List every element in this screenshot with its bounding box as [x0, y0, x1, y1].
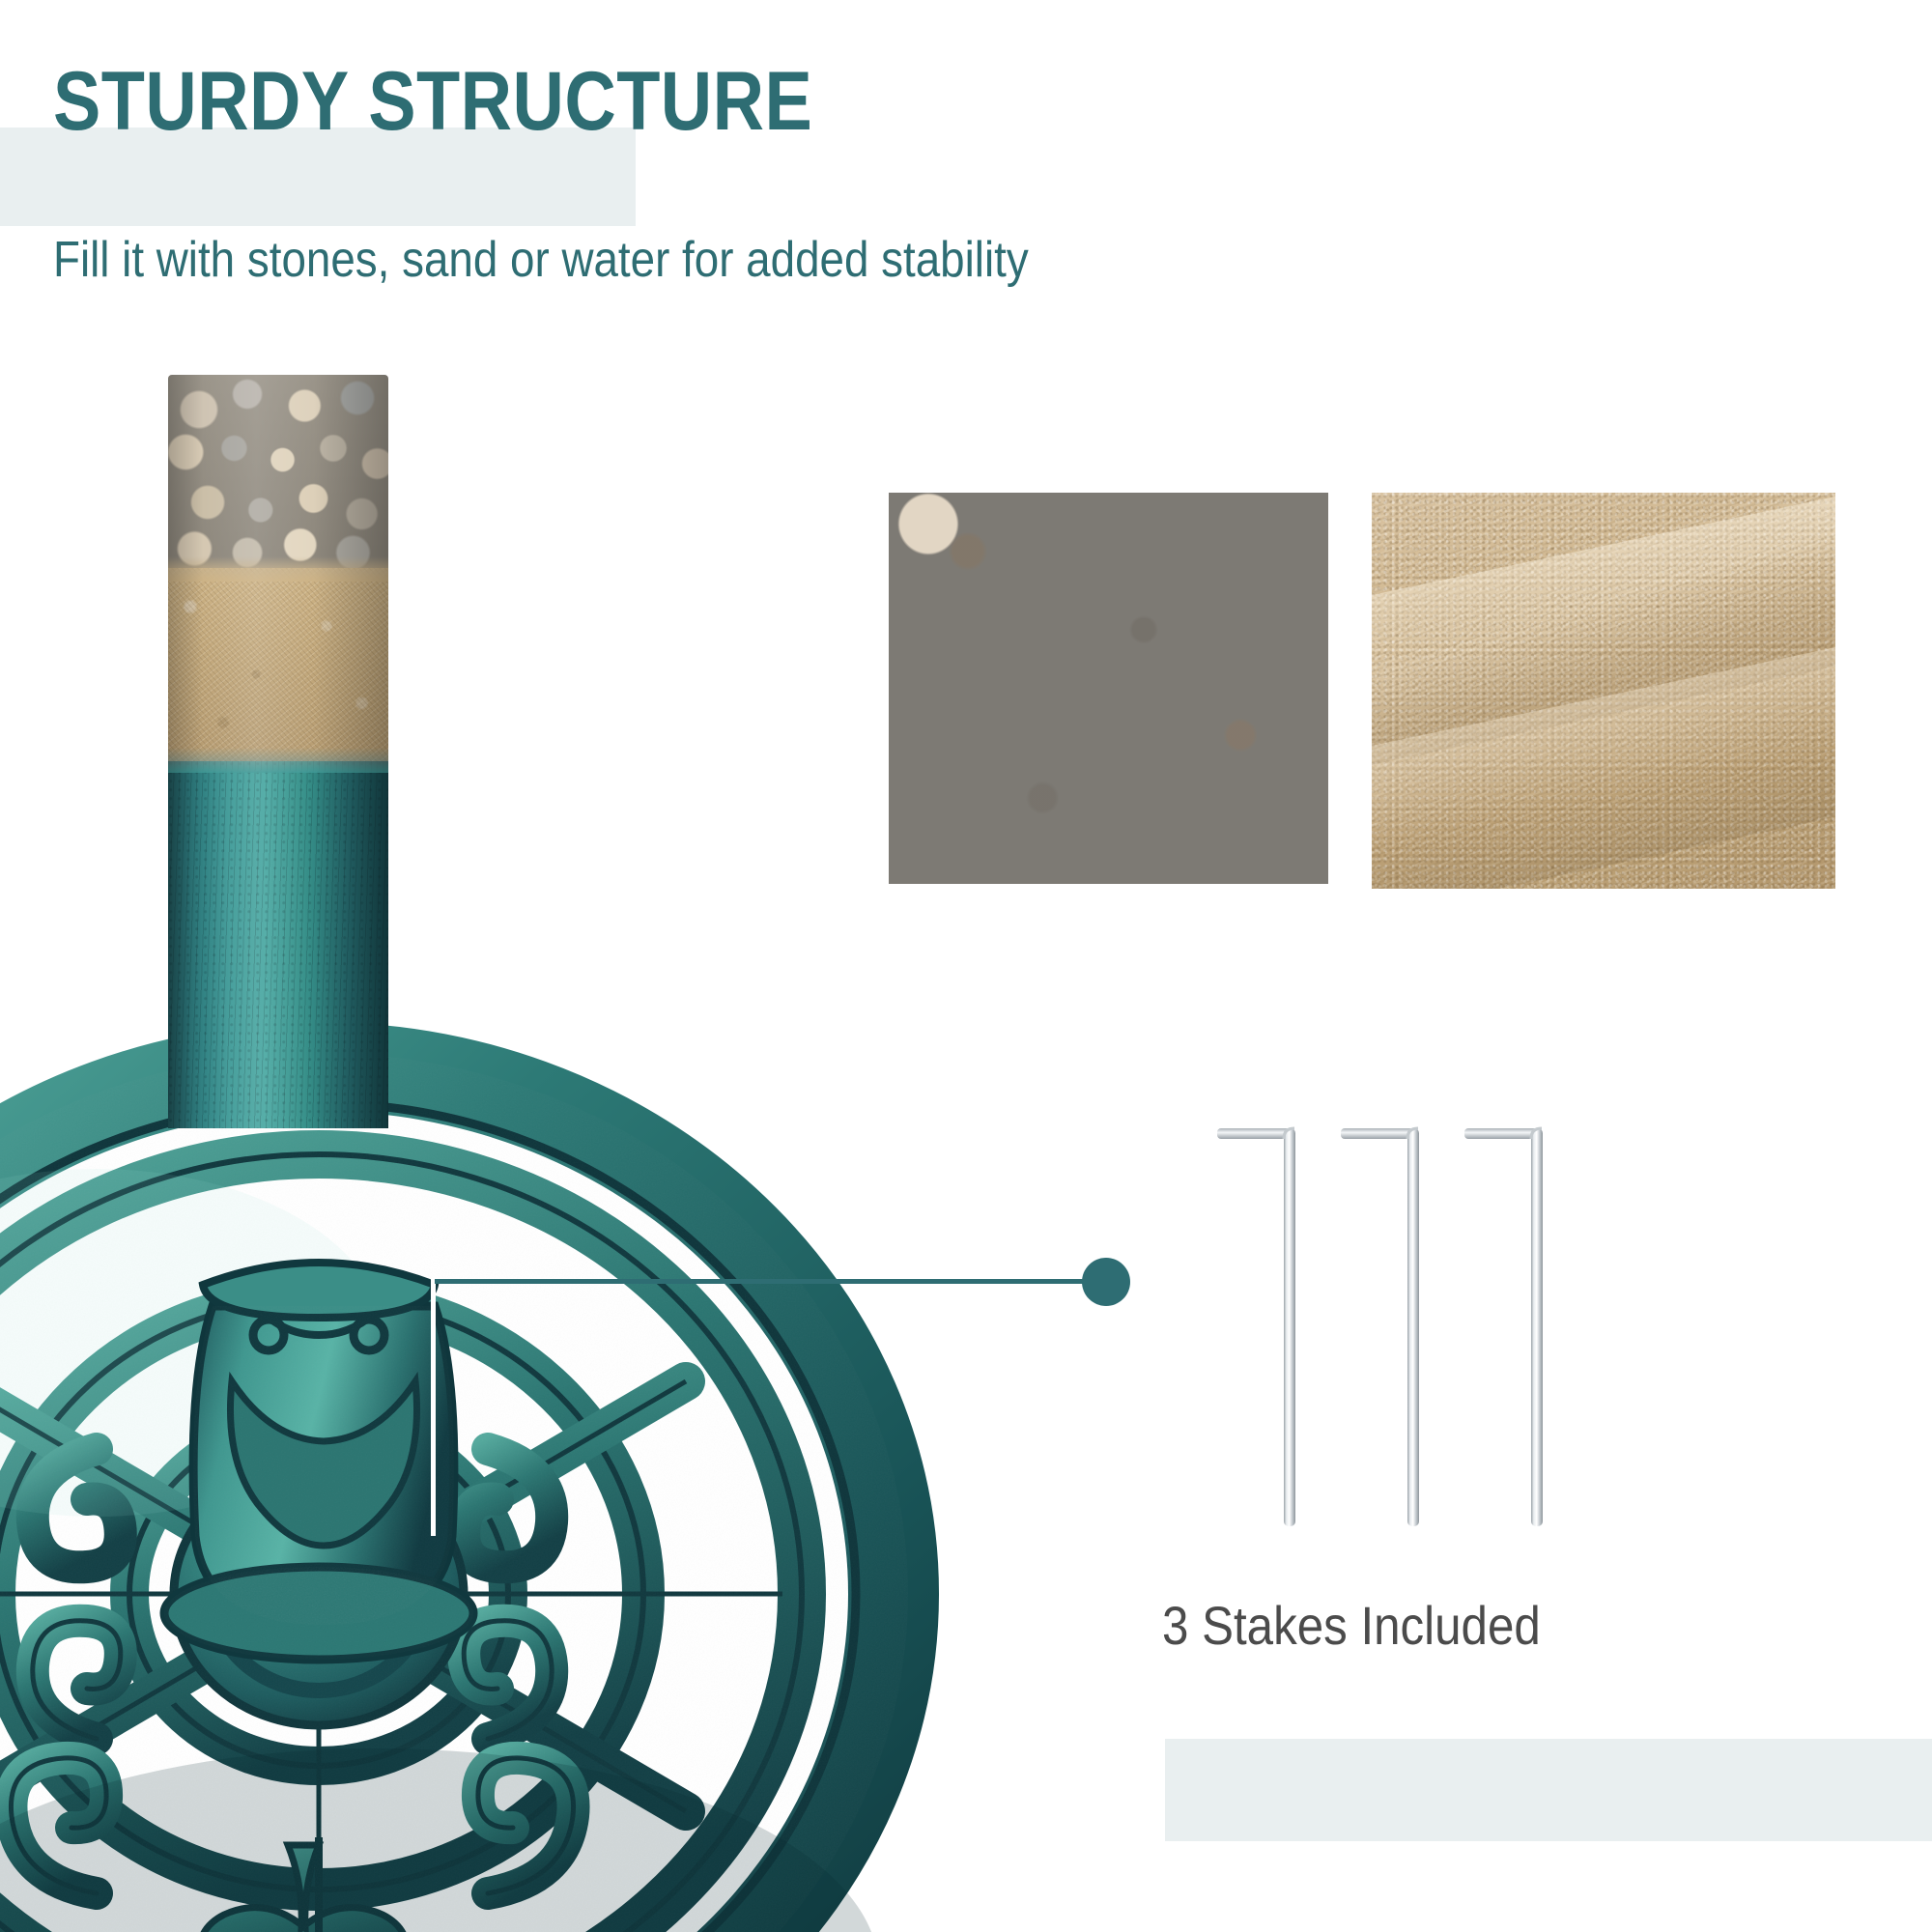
umbrella-base-illustration: [0, 995, 995, 1932]
infographic-canvas: STURDY STRUCTURE Fill it with stones, sa…: [0, 0, 1932, 1932]
pole-fill-stones: [168, 375, 388, 568]
stakes-caption: 3 Stakes Included: [1162, 1599, 1541, 1653]
stake-3: [1464, 1128, 1543, 1526]
stones-swatch: [889, 493, 1328, 884]
stake-2: [1341, 1128, 1419, 1526]
bottom-accent-band: [1165, 1739, 1932, 1841]
pole-body-teal: [168, 761, 388, 1128]
callout-dot-icon: [1082, 1258, 1130, 1306]
pole-fill-sand: [168, 568, 388, 761]
page-title: STURDY STRUCTURE: [53, 60, 812, 143]
page-subtitle: Fill it with stones, sand or water for a…: [53, 235, 1029, 285]
callout-horizontal-leader: [435, 1279, 1103, 1284]
sand-swatch: [1372, 493, 1835, 889]
stake-1: [1217, 1128, 1295, 1526]
stakes-illustration: [1212, 1121, 1618, 1536]
callout-vertical-leader: [431, 1279, 436, 1536]
umbrella-pole-cutaway: [168, 375, 388, 1128]
pole-collar: [164, 1263, 473, 1660]
stones-texture: [889, 493, 1328, 884]
